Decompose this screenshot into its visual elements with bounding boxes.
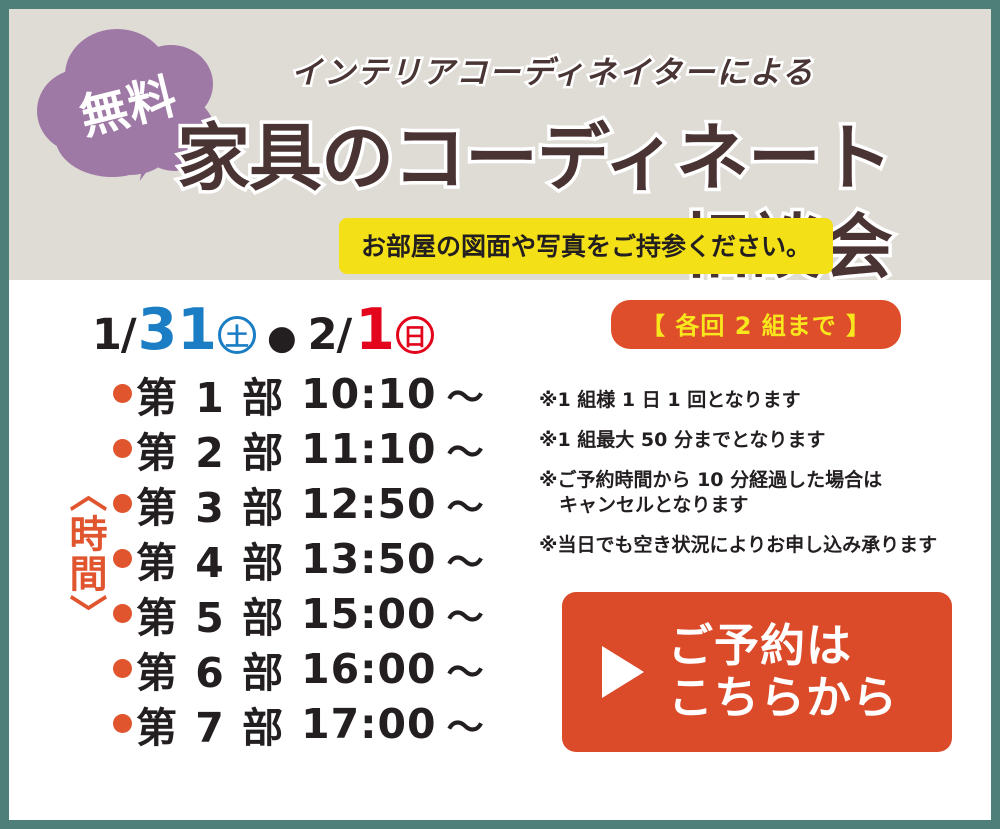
session-time: 13:50 [301, 535, 437, 583]
schedule-block: 〈時間〉 第 1 部 10:10 ～ 第 2 部 11:10 ～ [49, 366, 484, 751]
note-line: ※1 組様 1 日 1 回となります [539, 388, 979, 413]
date-month-1: 1/ [92, 310, 136, 360]
note-line: ※1 組最大 50 分までとなります [539, 428, 979, 453]
note-line: ※ご予約時間から 10 分経過した場合は [539, 468, 979, 493]
note-line: ※当日でも空き状況によりお申し込み承ります [539, 533, 979, 558]
bullet-icon [113, 494, 132, 513]
session-tilde: ～ [447, 587, 484, 641]
session-part: 第 7 部 [136, 694, 285, 754]
schedule-row: 第 5 部 15:00 ～ [113, 586, 484, 641]
session-time: 15:00 [301, 590, 437, 638]
session-tilde: ～ [447, 367, 484, 421]
session-time: 17:00 [301, 700, 437, 748]
bullet-icon [113, 549, 132, 568]
session-time: 16:00 [301, 645, 437, 693]
session-part: 第 6 部 [136, 639, 285, 699]
banner-header: 無料 インテリアコーディネイターによる 家具のコーディネート 相談会 お部屋の図… [9, 9, 991, 280]
schedule-row: 第 7 部 17:00 ～ [113, 696, 484, 751]
notes-list: ※1 組様 1 日 1 回となります ※1 組最大 50 分までとなります ※ご… [539, 388, 979, 573]
bullet-icon [113, 384, 132, 403]
session-part: 第 4 部 [136, 529, 285, 589]
note-line-cont: キャンセルとなります [539, 493, 979, 518]
session-tilde: ～ [447, 697, 484, 751]
session-part: 第 3 部 [136, 474, 285, 534]
session-time: 10:10 [301, 370, 437, 418]
bullet-icon [113, 714, 132, 733]
headline-group: インテリアコーディネイターによる 家具のコーディネート 相談会 お部屋の図面や写… [179, 21, 979, 271]
schedule-list: 第 1 部 10:10 ～ 第 2 部 11:10 ～ 第 3 部 12:50 [113, 366, 484, 751]
schedule-row: 第 4 部 13:50 ～ [113, 531, 484, 586]
date-month-2: 2/ [308, 310, 352, 360]
session-tilde: ～ [447, 642, 484, 696]
bullet-icon [113, 604, 132, 623]
reservation-cta-button[interactable]: ご予約はこちらから [562, 592, 952, 752]
cta-label: ご予約はこちらから [668, 620, 898, 724]
day-of-week-saturday: 土 [218, 316, 256, 354]
cta-line-2: こちらから [668, 671, 898, 724]
note-item: ※1 組様 1 日 1 回となります [539, 388, 979, 413]
schedule-row: 第 6 部 16:00 ～ [113, 641, 484, 696]
date-separator: ● [267, 318, 297, 358]
capacity-badge: 【 各回 2 組まで 】 [611, 300, 901, 349]
session-part: 第 5 部 [136, 584, 285, 644]
page-title: 家具のコーディネート [177, 99, 892, 205]
session-tilde: ～ [447, 477, 484, 531]
cta-line-1: ご予約は [668, 619, 852, 672]
schedule-row: 第 2 部 11:10 ～ [113, 421, 484, 476]
session-time: 11:10 [301, 425, 437, 473]
date-day-1: 31 [138, 297, 217, 363]
schedule-label: 〈時間〉 [49, 456, 103, 651]
note-item: ※1 組最大 50 分までとなります [539, 428, 979, 453]
bullet-icon [113, 439, 132, 458]
banner-body: 1/ 31 土 ● 2/ 1 日 〈時間〉 第 1 部 10:10 ～ [9, 280, 991, 820]
note-item: ※ご予約時間から 10 分経過した場合は キャンセルとなります [539, 468, 979, 518]
play-triangle-icon [602, 646, 644, 698]
schedule-row: 第 3 部 12:50 ～ [113, 476, 484, 531]
session-tilde: ～ [447, 422, 484, 476]
session-time: 12:50 [301, 480, 437, 528]
date-day-2: 1 [355, 297, 395, 363]
bullet-icon [113, 659, 132, 678]
session-part: 第 2 部 [136, 419, 285, 479]
promo-banner: 無料 インテリアコーディネイターによる 家具のコーディネート 相談会 お部屋の図… [0, 0, 1000, 829]
session-part: 第 1 部 [136, 364, 285, 424]
bring-note-highlight: お部屋の図面や写真をご持参ください。 [339, 218, 833, 274]
event-dates: 1/ 31 土 ● 2/ 1 日 [92, 297, 434, 363]
day-of-week-sunday: 日 [396, 316, 434, 354]
catchphrase: インテリアコーディネイターによる [291, 47, 815, 92]
schedule-row: 第 1 部 10:10 ～ [113, 366, 484, 421]
session-tilde: ～ [447, 532, 484, 586]
note-item: ※当日でも空き状況によりお申し込み承ります [539, 533, 979, 558]
banner-inner: 無料 インテリアコーディネイターによる 家具のコーディネート 相談会 お部屋の図… [9, 9, 991, 820]
